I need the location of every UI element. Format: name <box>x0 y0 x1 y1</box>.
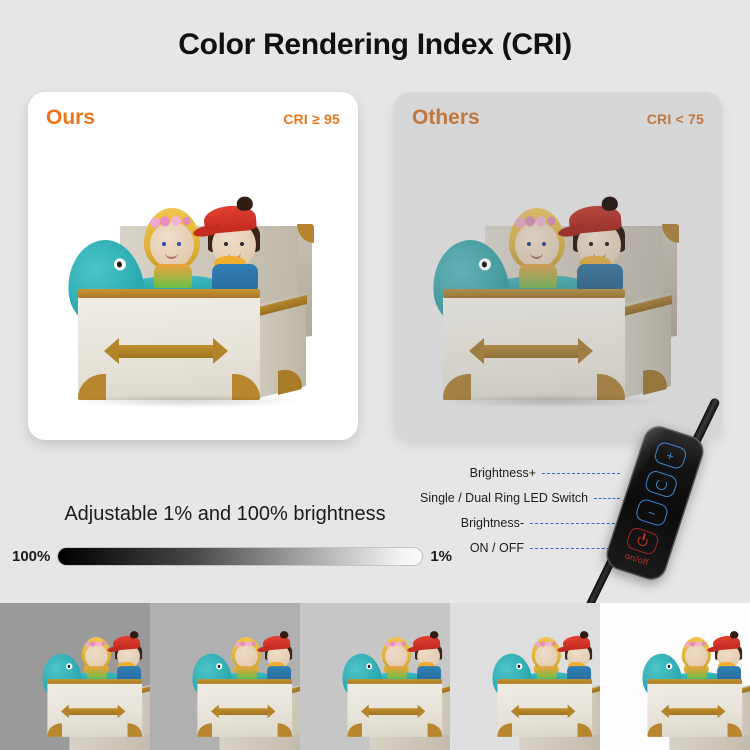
dinosaur-eye <box>478 258 491 271</box>
boy-hair-tuft <box>130 631 139 639</box>
callout-on-off: ON / OFF <box>420 537 620 559</box>
girl-head <box>150 222 194 268</box>
girl-body <box>237 666 257 678</box>
girl-head <box>535 644 558 668</box>
doll-girl <box>142 204 202 288</box>
callout-ring-switch: Single / Dual Ring LED Switch <box>420 487 620 509</box>
boy-body <box>717 666 741 680</box>
dinosaur-eye <box>666 663 673 670</box>
girl-eye-right <box>542 242 546 246</box>
girl-body <box>87 666 107 678</box>
boy-body <box>417 666 441 680</box>
doll-boy <box>412 634 445 680</box>
toy-chest-scene <box>62 174 324 406</box>
boy-eye-right <box>605 242 609 246</box>
brightness-max-label: 100% <box>12 548 50 565</box>
chest-handle <box>518 708 568 715</box>
boy-red-cap <box>112 635 140 651</box>
boy-hair-tuft <box>236 196 253 211</box>
minus-icon[interactable]: − <box>634 497 669 527</box>
product-scene-dull <box>394 92 722 440</box>
chest-handle <box>218 708 268 715</box>
boy-body <box>567 666 591 680</box>
girl-body <box>519 264 557 288</box>
callout-brightness-up: Brightness+ <box>420 462 620 484</box>
ring-mode-icon[interactable] <box>644 469 679 499</box>
boy-hair-tuft <box>280 631 289 639</box>
callout-label: Brightness- <box>461 516 524 530</box>
boy-body <box>212 264 258 290</box>
comparison-panel-others: Others CRI < 75 <box>394 92 722 440</box>
chest-rim <box>347 679 442 684</box>
callout-label: ON / OFF <box>470 541 524 555</box>
chest-rim <box>47 679 142 684</box>
toy-chest-scene <box>427 174 689 406</box>
toy-chest-scene <box>489 677 561 740</box>
remote-control: + − on/off <box>596 398 750 598</box>
girl-head <box>235 644 258 668</box>
doll-boy <box>112 634 145 680</box>
chest-handle <box>118 345 214 358</box>
filmstrip-tile <box>300 603 450 750</box>
plus-icon[interactable]: + <box>653 440 688 470</box>
chest-rim <box>78 289 260 298</box>
brightness-bar-row: 100% 1% <box>12 543 452 569</box>
brightness-gradient-bar <box>57 547 423 566</box>
dinosaur-eye <box>216 663 223 670</box>
girl-eye-right <box>177 242 181 246</box>
girl-smile <box>165 252 178 259</box>
boy-red-cap <box>262 635 290 651</box>
doll-girl <box>531 635 562 679</box>
brightness-caption: Adjustable 1% and 100% brightness <box>30 503 420 526</box>
callout-brightness-down: Brightness- <box>420 512 620 534</box>
boy-red-cap <box>568 204 622 234</box>
doll-girl <box>381 635 412 679</box>
chest-rim <box>197 679 292 684</box>
girl-head <box>385 644 408 668</box>
comparison-panel-ours: Ours CRI ≥ 95 <box>28 92 358 440</box>
boy-hair-tuft <box>730 631 739 639</box>
girl-head <box>85 644 108 668</box>
power-glyph <box>636 535 649 548</box>
chest-handle <box>483 345 579 358</box>
chest-handle <box>668 708 718 715</box>
remote-callout-list: Brightness+ Single / Dual Ring LED Switc… <box>420 462 620 562</box>
filmstrip-tile <box>0 603 150 750</box>
dinosaur-eye <box>366 663 373 670</box>
chest-rim <box>497 679 592 684</box>
toy-chest-scene <box>639 677 711 740</box>
chest-rim <box>647 679 742 684</box>
filmstrip-tile <box>600 603 750 750</box>
girl-smile <box>530 252 543 259</box>
ring-glyph <box>654 477 668 491</box>
girl-eye-left <box>527 242 531 246</box>
girl-eye-left <box>162 242 166 246</box>
boy-red-cap <box>412 635 440 651</box>
toy-chest-scene <box>189 677 261 740</box>
filmstrip-tile <box>450 603 600 750</box>
chest-rim <box>443 289 625 298</box>
doll-girl <box>231 635 262 679</box>
boy-hair-tuft <box>580 631 589 639</box>
doll-boy <box>712 634 745 680</box>
doll-girl <box>681 635 712 679</box>
doll-girl <box>507 204 567 288</box>
chest-handle <box>68 708 118 715</box>
boy-body <box>117 666 141 680</box>
girl-body <box>154 264 192 288</box>
dinosaur-eye <box>113 258 126 271</box>
boy-eye-left <box>589 242 593 246</box>
page-title: Color Rendering Index (CRI) <box>0 28 750 62</box>
boy-body <box>267 666 291 680</box>
chest-back-corner <box>297 224 314 243</box>
boy-hair-tuft <box>601 196 618 211</box>
toy-chest-scene <box>39 677 111 740</box>
doll-boy <box>562 634 595 680</box>
girl-body <box>687 666 707 678</box>
filmstrip-tile <box>150 603 300 750</box>
dinosaur-eye <box>66 663 73 670</box>
toy-chest-scene <box>339 677 411 740</box>
boy-eye-left <box>224 242 228 246</box>
chest-back-corner <box>662 224 679 243</box>
boy-red-cap <box>562 635 590 651</box>
girl-head <box>685 644 708 668</box>
boy-hair-tuft <box>430 631 439 639</box>
product-scene-bright <box>28 92 358 440</box>
doll-girl <box>81 635 112 679</box>
callout-label: Brightness+ <box>470 466 536 480</box>
doll-boy <box>262 634 295 680</box>
chest-handle <box>368 708 418 715</box>
doll-boy <box>567 202 631 290</box>
boy-body <box>577 264 623 290</box>
boy-red-cap <box>712 635 740 651</box>
scene-ground-shadow <box>72 394 302 408</box>
callout-label: Single / Dual Ring LED Switch <box>420 491 588 505</box>
boy-red-cap <box>203 204 257 234</box>
girl-body <box>387 666 407 678</box>
boy-eye-right <box>240 242 244 246</box>
remote-body[interactable]: + − on/off <box>602 422 707 584</box>
dinosaur-eye <box>516 663 523 670</box>
brightness-filmstrip <box>0 603 750 750</box>
girl-head <box>515 222 559 268</box>
girl-body <box>537 666 557 678</box>
doll-boy <box>202 202 266 290</box>
